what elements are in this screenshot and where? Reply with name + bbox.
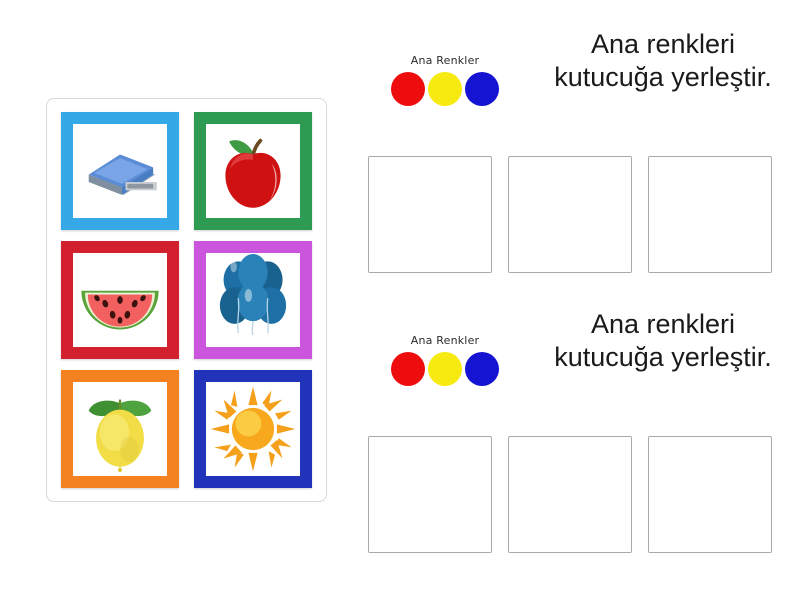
book-icon [74, 125, 166, 217]
draggable-tile-apple[interactable] [187, 107, 321, 236]
question-group-2: Ana Renkler Ana renkleri kutucuğa yerleş… [360, 308, 792, 418]
dropzone-1-2[interactable] [508, 156, 632, 273]
red-dot [391, 352, 425, 386]
activity-canvas: Ana Renkler Ana renkleri kutucuğa yerleş… [0, 0, 800, 600]
blue-dot [465, 352, 499, 386]
question-instruction: Ana renkleri kutucuğa yerleştir. [538, 28, 788, 94]
tile-frame [194, 112, 312, 230]
draggable-tile-watermelon[interactable] [53, 236, 187, 365]
tile-frame [61, 112, 179, 230]
draggable-tile-lemon[interactable] [53, 364, 187, 493]
question-header: Ana Renkler Ana renkleri kutucuğa yerleş… [360, 308, 792, 418]
question-instruction: Ana renkleri kutucuğa yerleştir. [538, 308, 788, 374]
dropzone-2-1[interactable] [368, 436, 492, 553]
prompt-card-1: Ana Renkler [370, 54, 520, 106]
watermelon-icon [74, 254, 166, 346]
tile-frame [61, 370, 179, 488]
draggable-tile-book[interactable] [53, 107, 187, 236]
yellow-dot [428, 72, 462, 106]
question-group-1: Ana Renkler Ana renkleri kutucuğa yerleş… [360, 28, 792, 138]
draggable-tile-balloons[interactable] [187, 236, 321, 365]
tile-frame [194, 370, 312, 488]
balloons-icon [207, 254, 299, 346]
red-dot [391, 72, 425, 106]
dropzone-row-2 [368, 436, 772, 553]
blue-dot [465, 72, 499, 106]
primary-colors-dots [370, 352, 520, 386]
tile-tray [46, 98, 327, 502]
prompt-card-2: Ana Renkler [370, 334, 520, 386]
tile-frame [194, 241, 312, 359]
question-header: Ana Renkler Ana renkleri kutucuğa yerleş… [360, 28, 792, 138]
apple-icon [207, 125, 299, 217]
sun-icon [207, 383, 299, 475]
lemon-icon [74, 383, 166, 475]
yellow-dot [428, 352, 462, 386]
dropzone-2-2[interactable] [508, 436, 632, 553]
prompt-label: Ana Renkler [370, 54, 520, 67]
draggable-tile-sun[interactable] [187, 364, 321, 493]
dropzone-row-1 [368, 156, 772, 273]
dropzone-1-3[interactable] [648, 156, 772, 273]
prompt-label: Ana Renkler [370, 334, 520, 347]
dropzone-1-1[interactable] [368, 156, 492, 273]
primary-colors-dots [370, 72, 520, 106]
tile-frame [61, 241, 179, 359]
dropzone-2-3[interactable] [648, 436, 772, 553]
